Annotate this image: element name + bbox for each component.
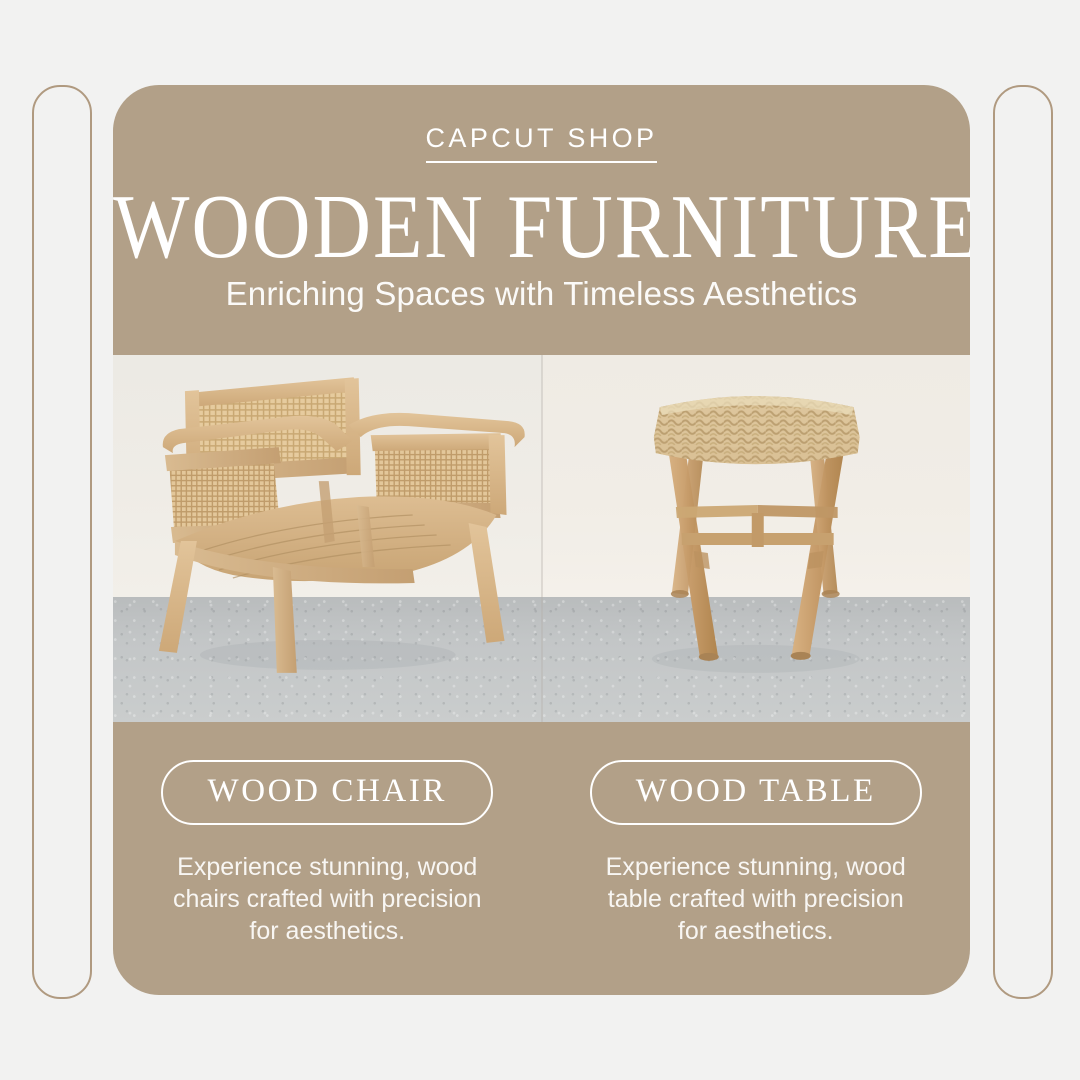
wooden-cane-armchair-photo	[113, 355, 542, 722]
wood-chair-label-button[interactable]: WOOD CHAIR	[161, 760, 493, 825]
page-title: WOODEN FURNITURE	[113, 181, 970, 273]
poster-canvas: CAPCUT SHOP WOODEN FURNITURE Enriching S…	[0, 0, 1080, 1080]
decorative-right-pill-bar	[993, 85, 1053, 999]
wood-chair-description: Experience stunning, wood chairs crafted…	[162, 851, 492, 947]
photo-divider-seam	[541, 355, 543, 722]
product-column-wood-chair: WOOD CHAIR Experience stunning, wood cha…	[113, 722, 542, 995]
woven-top-wooden-stool-photo	[542, 355, 971, 722]
brand-eyebrow-text: CAPCUT SHOP	[426, 123, 658, 163]
page-subtitle: Enriching Spaces with Timeless Aesthetic…	[113, 275, 970, 313]
header-section: CAPCUT SHOP WOODEN FURNITURE Enriching S…	[113, 85, 970, 355]
wood-table-description: Experience stunning, wood table crafted …	[591, 851, 921, 947]
decorative-left-pill-bar	[32, 85, 92, 999]
wood-table-label-button[interactable]: WOOD TABLE	[590, 760, 922, 825]
main-card: CAPCUT SHOP WOODEN FURNITURE Enriching S…	[113, 85, 970, 995]
stool-illustration	[542, 355, 971, 722]
product-photo-band	[113, 355, 970, 722]
product-columns: WOOD CHAIR Experience stunning, wood cha…	[113, 722, 970, 995]
product-column-wood-table: WOOD TABLE Experience stunning, wood tab…	[542, 722, 971, 995]
armchair-illustration	[113, 355, 542, 722]
brand-eyebrow: CAPCUT SHOP	[113, 123, 970, 163]
